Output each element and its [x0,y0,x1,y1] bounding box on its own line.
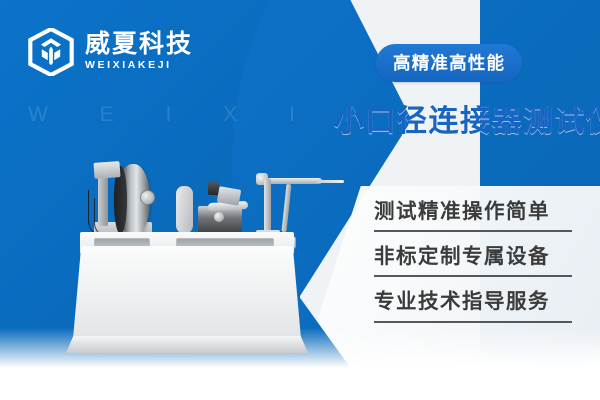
feature-label: 专业技术指导服务 [374,288,572,314]
arm-post [264,178,271,238]
feature-label: 非标定制专属设备 [374,243,572,269]
cross-arm [264,178,322,184]
panel-slot [119,373,181,382]
brand-name-en: WEIXIAKEJI [85,58,193,74]
feature-label: 测试精准操作简单 [374,198,572,224]
brand-name-cn: 威夏科技 [85,30,193,57]
brand-logo[interactable]: 威夏科技 WEIXIAKEJI [28,28,193,76]
wheel-hub [140,190,155,205]
feature-divider [374,230,572,232]
arm-support [282,184,292,232]
arm-head [93,161,120,179]
list-item: 专业技术指导服务 [374,288,572,322]
list-item: 测试精准操作简单 [374,198,572,232]
hero-badge: 高精准高性能 [376,44,522,82]
feature-list: 测试精准操作简单 非标定制专属设备 专业技术指导服务 [374,198,572,334]
product-banner: W E I X I A K E J I 威夏科技 WEIXIAKEJI 高精准高… [0,0,600,400]
machine-base [66,336,308,353]
page-title: 小口径连接器测试仪 [334,96,600,140]
paddle-guide [176,186,193,234]
fixture-dial [214,212,224,222]
feature-divider [374,321,572,323]
feature-divider [374,275,572,277]
hexagon-shield-arrow-icon [28,28,74,76]
brand-logo-text: 威夏科技 WEIXIAKEJI [85,30,193,74]
product-image: 小口径连接器测试仪 [58,160,324,382]
probe-tip [316,180,344,183]
machine-body: 小口径连接器测试仪 [72,246,302,350]
list-item: 非标定制专属设备 [374,243,572,277]
